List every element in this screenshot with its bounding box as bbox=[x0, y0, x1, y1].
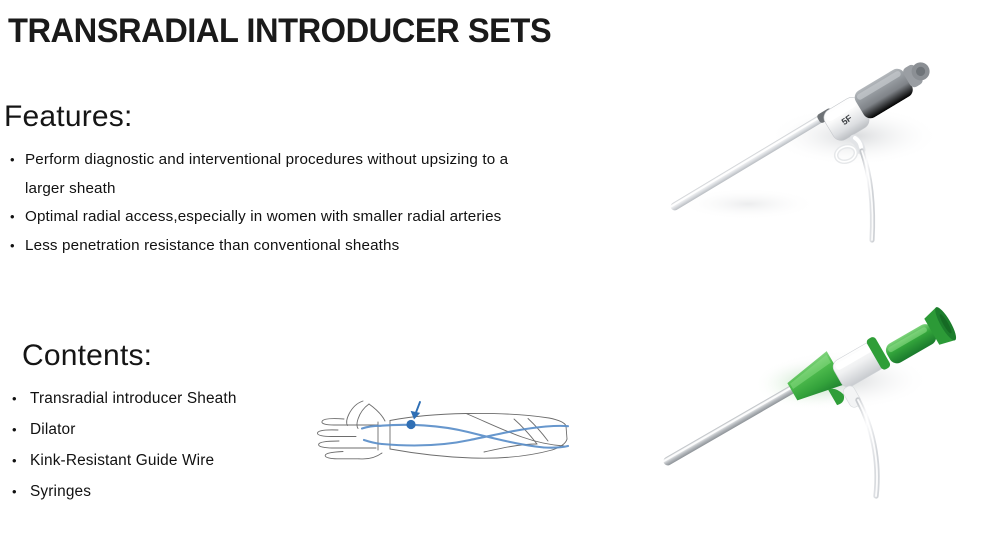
green-introducer-sheath-photo bbox=[658, 284, 988, 504]
features-heading: Features: bbox=[4, 100, 133, 134]
white-introducer-sheath-photo: 5F bbox=[658, 8, 988, 276]
forearm-radial-access-diagram bbox=[316, 392, 584, 476]
page-title: TRANSRADIAL INTRODUCER SETS bbox=[8, 12, 551, 51]
list-item: Syringes bbox=[8, 476, 388, 507]
slide-canvas: TRANSRADIAL INTRODUCER SETS Features: Pe… bbox=[0, 0, 1000, 536]
radial-access-marker bbox=[406, 420, 415, 429]
list-item: Less penetration resistance than convent… bbox=[8, 232, 538, 261]
contents-heading: Contents: bbox=[22, 339, 152, 373]
features-list: Perform diagnostic and interventional pr… bbox=[8, 146, 538, 260]
list-item: Perform diagnostic and interventional pr… bbox=[8, 146, 538, 203]
list-item: Optimal radial access,especially in wome… bbox=[8, 203, 538, 232]
